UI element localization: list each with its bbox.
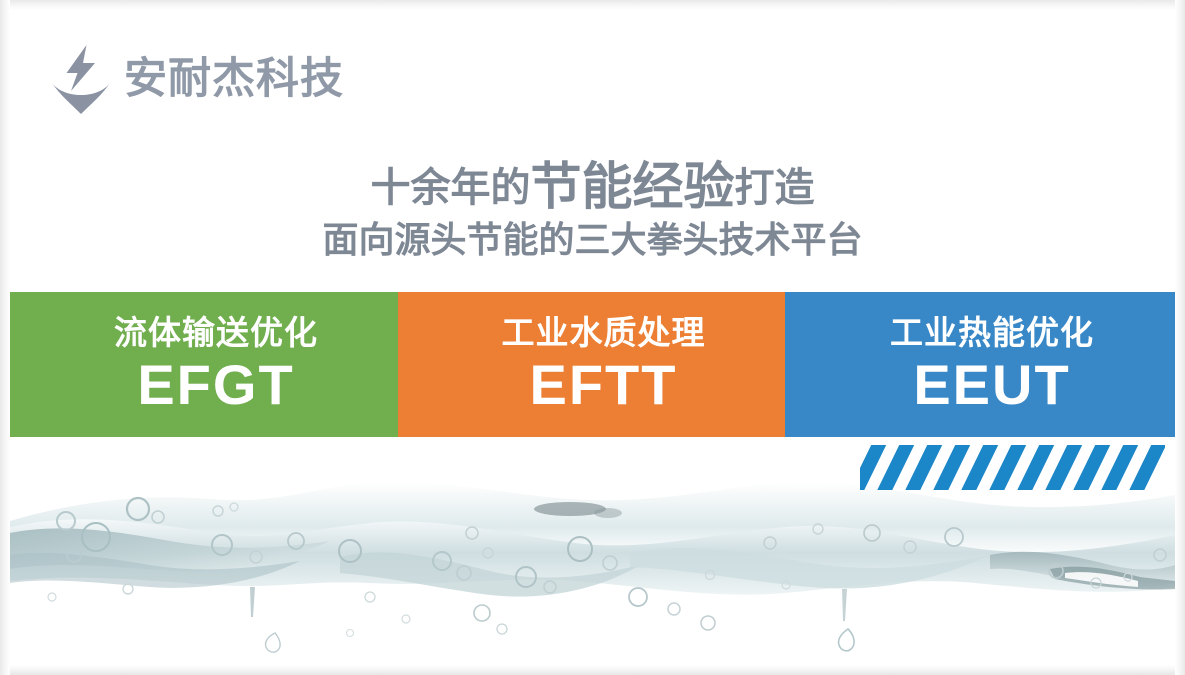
slide-frame-top bbox=[0, 0, 1185, 10]
platform-code-eeut: EEUT bbox=[890, 354, 1094, 416]
platform-block-efgt[interactable]: 流体输送优化 EFGT bbox=[10, 292, 398, 437]
platform-block-eftt[interactable]: 工业水质处理 EFTT bbox=[398, 292, 785, 437]
slide-canvas: 安耐杰科技 十余年的节能经验打造 面向源头节能的三大拳头技术平台 流体输送优化 … bbox=[10, 10, 1175, 665]
platform-name-eftt: 工业水质处理 bbox=[502, 313, 706, 353]
platform-name-efgt: 流体输送优化 bbox=[114, 313, 318, 353]
brand-logo: 安耐杰科技 bbox=[50, 43, 344, 115]
headline-line-2: 面向源头节能的三大拳头技术平台 bbox=[10, 216, 1175, 264]
diagonal-stripes-decoration bbox=[860, 445, 1165, 490]
presentation-slide: 安耐杰科技 十余年的节能经验打造 面向源头节能的三大拳头技术平台 流体输送优化 … bbox=[0, 0, 1185, 675]
platform-block-eftt-content: 工业水质处理 EFTT bbox=[502, 313, 706, 416]
slide-frame-right bbox=[1175, 0, 1185, 675]
slide-frame-left bbox=[0, 0, 10, 675]
platform-blocks: 流体输送优化 EFGT 工业水质处理 EFTT 工业热能优化 EEUT bbox=[10, 292, 1175, 437]
headline-line1-suffix: 打造 bbox=[735, 166, 815, 210]
headline: 十余年的节能经验打造 面向源头节能的三大拳头技术平台 bbox=[10, 160, 1175, 264]
platform-block-efgt-content: 流体输送优化 EFGT bbox=[114, 313, 318, 416]
platform-block-eeut[interactable]: 工业热能优化 EEUT bbox=[785, 292, 1175, 437]
platform-block-eeut-content: 工业热能优化 EEUT bbox=[890, 313, 1094, 416]
headline-line1-emphasis: 节能经验 bbox=[530, 158, 734, 215]
headline-line-1: 十余年的节能经验打造 bbox=[10, 160, 1175, 216]
slide-frame-bottom bbox=[0, 665, 1185, 675]
platform-code-eftt: EFTT bbox=[502, 354, 706, 416]
brand-name: 安耐杰科技 bbox=[124, 58, 344, 101]
headline-line1-prefix: 十余年的 bbox=[370, 166, 530, 210]
lightning-bolt-chevron-logo-icon bbox=[50, 43, 112, 115]
platform-name-eeut: 工业热能优化 bbox=[890, 313, 1094, 353]
platform-code-efgt: EFGT bbox=[114, 354, 318, 416]
